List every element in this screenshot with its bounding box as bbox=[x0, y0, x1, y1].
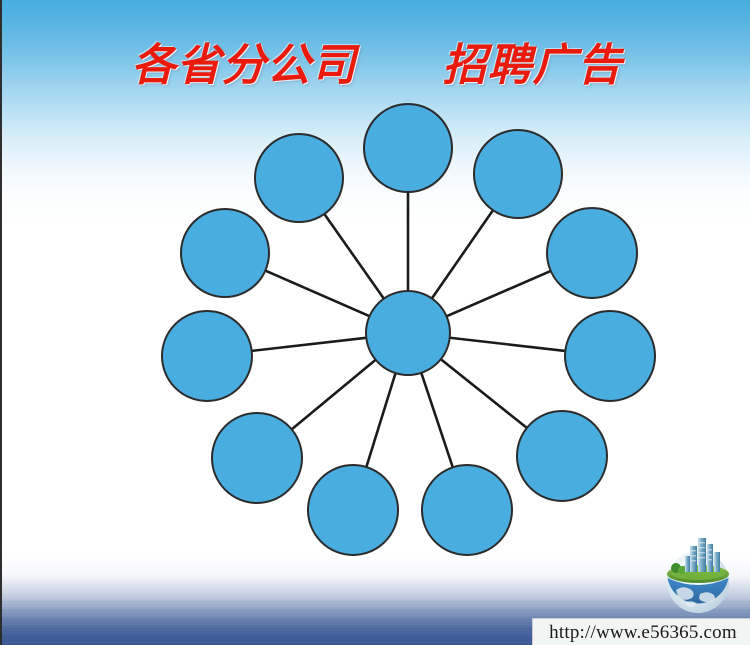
building-icon bbox=[685, 556, 690, 572]
slide-canvas: 各省分公司 招聘广告 bbox=[0, 0, 750, 645]
branch-node-9[interactable] bbox=[162, 311, 252, 401]
building-icon bbox=[714, 552, 720, 572]
branch-node-8[interactable] bbox=[212, 413, 302, 503]
building-icon bbox=[690, 546, 697, 572]
spoke-line-5 bbox=[440, 359, 528, 429]
branch-node-10[interactable] bbox=[181, 209, 269, 297]
branch-node-4[interactable] bbox=[565, 311, 655, 401]
radial-diagram bbox=[2, 0, 750, 645]
spoke-line-3 bbox=[446, 271, 552, 317]
branch-node-1[interactable] bbox=[364, 104, 452, 192]
hub-node[interactable] bbox=[366, 291, 450, 375]
branch-node-6[interactable] bbox=[422, 465, 512, 555]
spoke-line-8 bbox=[291, 359, 377, 430]
branch-node-5[interactable] bbox=[517, 411, 607, 501]
watermark-url-text: http://www.e56365.com bbox=[549, 622, 737, 644]
watermark-url-box: http://www.e56365.com bbox=[532, 618, 750, 645]
branch-node-3[interactable] bbox=[547, 208, 637, 298]
earth-city-globe-logo bbox=[650, 528, 746, 616]
hub-group bbox=[366, 291, 450, 375]
radial-diagram-svg bbox=[2, 0, 750, 645]
spoke-line-4 bbox=[449, 338, 567, 351]
spoke-line-2 bbox=[431, 209, 493, 299]
spoke-line-7 bbox=[366, 372, 396, 468]
spoke-line-10 bbox=[264, 270, 370, 316]
branch-node-7[interactable] bbox=[308, 465, 398, 555]
branch-node-2[interactable] bbox=[474, 130, 562, 218]
building-icon bbox=[707, 544, 713, 572]
spoke-line-6 bbox=[421, 372, 453, 468]
spoke-line-9 bbox=[251, 338, 368, 351]
tree-icon bbox=[678, 566, 686, 574]
spoke-line-11 bbox=[324, 213, 385, 299]
branch-node-11[interactable] bbox=[255, 134, 343, 222]
